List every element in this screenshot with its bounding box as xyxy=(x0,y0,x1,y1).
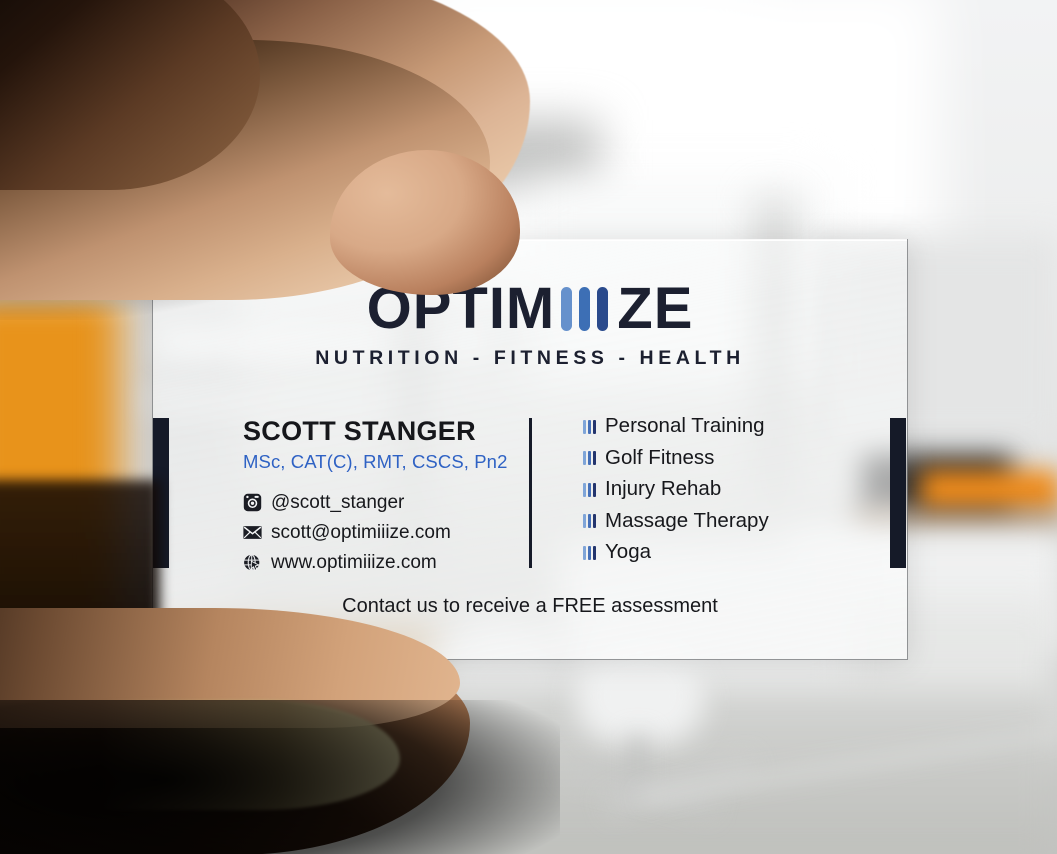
person-credentials: MSc, CAT(C), RMT, CSCS, Pn2 xyxy=(243,451,523,473)
bars-bullet-icon xyxy=(583,451,596,465)
accent-bar-left xyxy=(153,418,169,568)
service-item: Personal Training xyxy=(583,414,769,439)
email-icon xyxy=(243,523,262,542)
card-top-highlight xyxy=(153,239,907,241)
person-name: SCOTT STANGER xyxy=(243,416,523,447)
service-item: Massage Therapy xyxy=(583,509,769,534)
service-label: Personal Training xyxy=(605,416,765,437)
contact-block: SCOTT STANGER MSc, CAT(C), RMT, CSCS, Pn… xyxy=(243,416,523,580)
service-label: Injury Rehab xyxy=(605,479,721,500)
card-middle-section: SCOTT STANGER MSc, CAT(C), RMT, CSCS, Pn… xyxy=(153,418,907,568)
logo-text-left: OPTIM xyxy=(367,280,556,338)
logo-tagline: NUTRITION - FITNESS - HEALTH xyxy=(153,347,907,370)
vertical-divider xyxy=(529,418,532,568)
background-orange-accent-right xyxy=(920,470,1057,512)
contact-row-instagram[interactable]: @scott_stanger xyxy=(243,490,523,514)
contact-value-website: www.optimiiize.com xyxy=(271,553,437,572)
logo-text-right: ZE xyxy=(617,280,693,338)
service-item: Golf Fitness xyxy=(583,446,769,471)
bars-bullet-icon xyxy=(583,420,596,434)
service-item: Yoga xyxy=(583,540,769,565)
contact-row-website[interactable]: www.optimiiize.com xyxy=(243,550,523,574)
bars-bullet-icon xyxy=(583,514,596,528)
service-label: Golf Fitness xyxy=(605,448,714,469)
contact-value-email: scott@optimiiize.com xyxy=(271,523,451,542)
service-label: Yoga xyxy=(605,542,651,563)
services-list: Personal Training Golf Fitness Injury Re… xyxy=(583,414,769,572)
brand-logo: OPTIM ZE NUTRITION - FITNESS - HEALTH xyxy=(153,280,907,370)
contact-list: @scott_stanger scott@optimiiize.com xyxy=(243,490,523,574)
service-item: Injury Rehab xyxy=(583,477,769,502)
instagram-icon xyxy=(243,493,262,512)
background-floor xyxy=(0,690,1057,854)
website-icon xyxy=(243,553,262,572)
business-card: OPTIM ZE NUTRITION - FITNESS - HEALTH SC… xyxy=(152,239,908,660)
contact-value-instagram: @scott_stanger xyxy=(271,493,404,512)
accent-bar-right xyxy=(890,418,906,568)
bars-bullet-icon xyxy=(583,546,596,560)
scene: OPTIM ZE NUTRITION - FITNESS - HEALTH SC… xyxy=(0,0,1057,854)
contact-row-email[interactable]: scott@optimiiize.com xyxy=(243,520,523,544)
service-label: Massage Therapy xyxy=(605,511,769,532)
logo-bars-icon xyxy=(561,287,608,331)
card-footer-text: Contact us to receive a FREE assessment xyxy=(153,595,907,618)
bars-bullet-icon xyxy=(583,483,596,497)
